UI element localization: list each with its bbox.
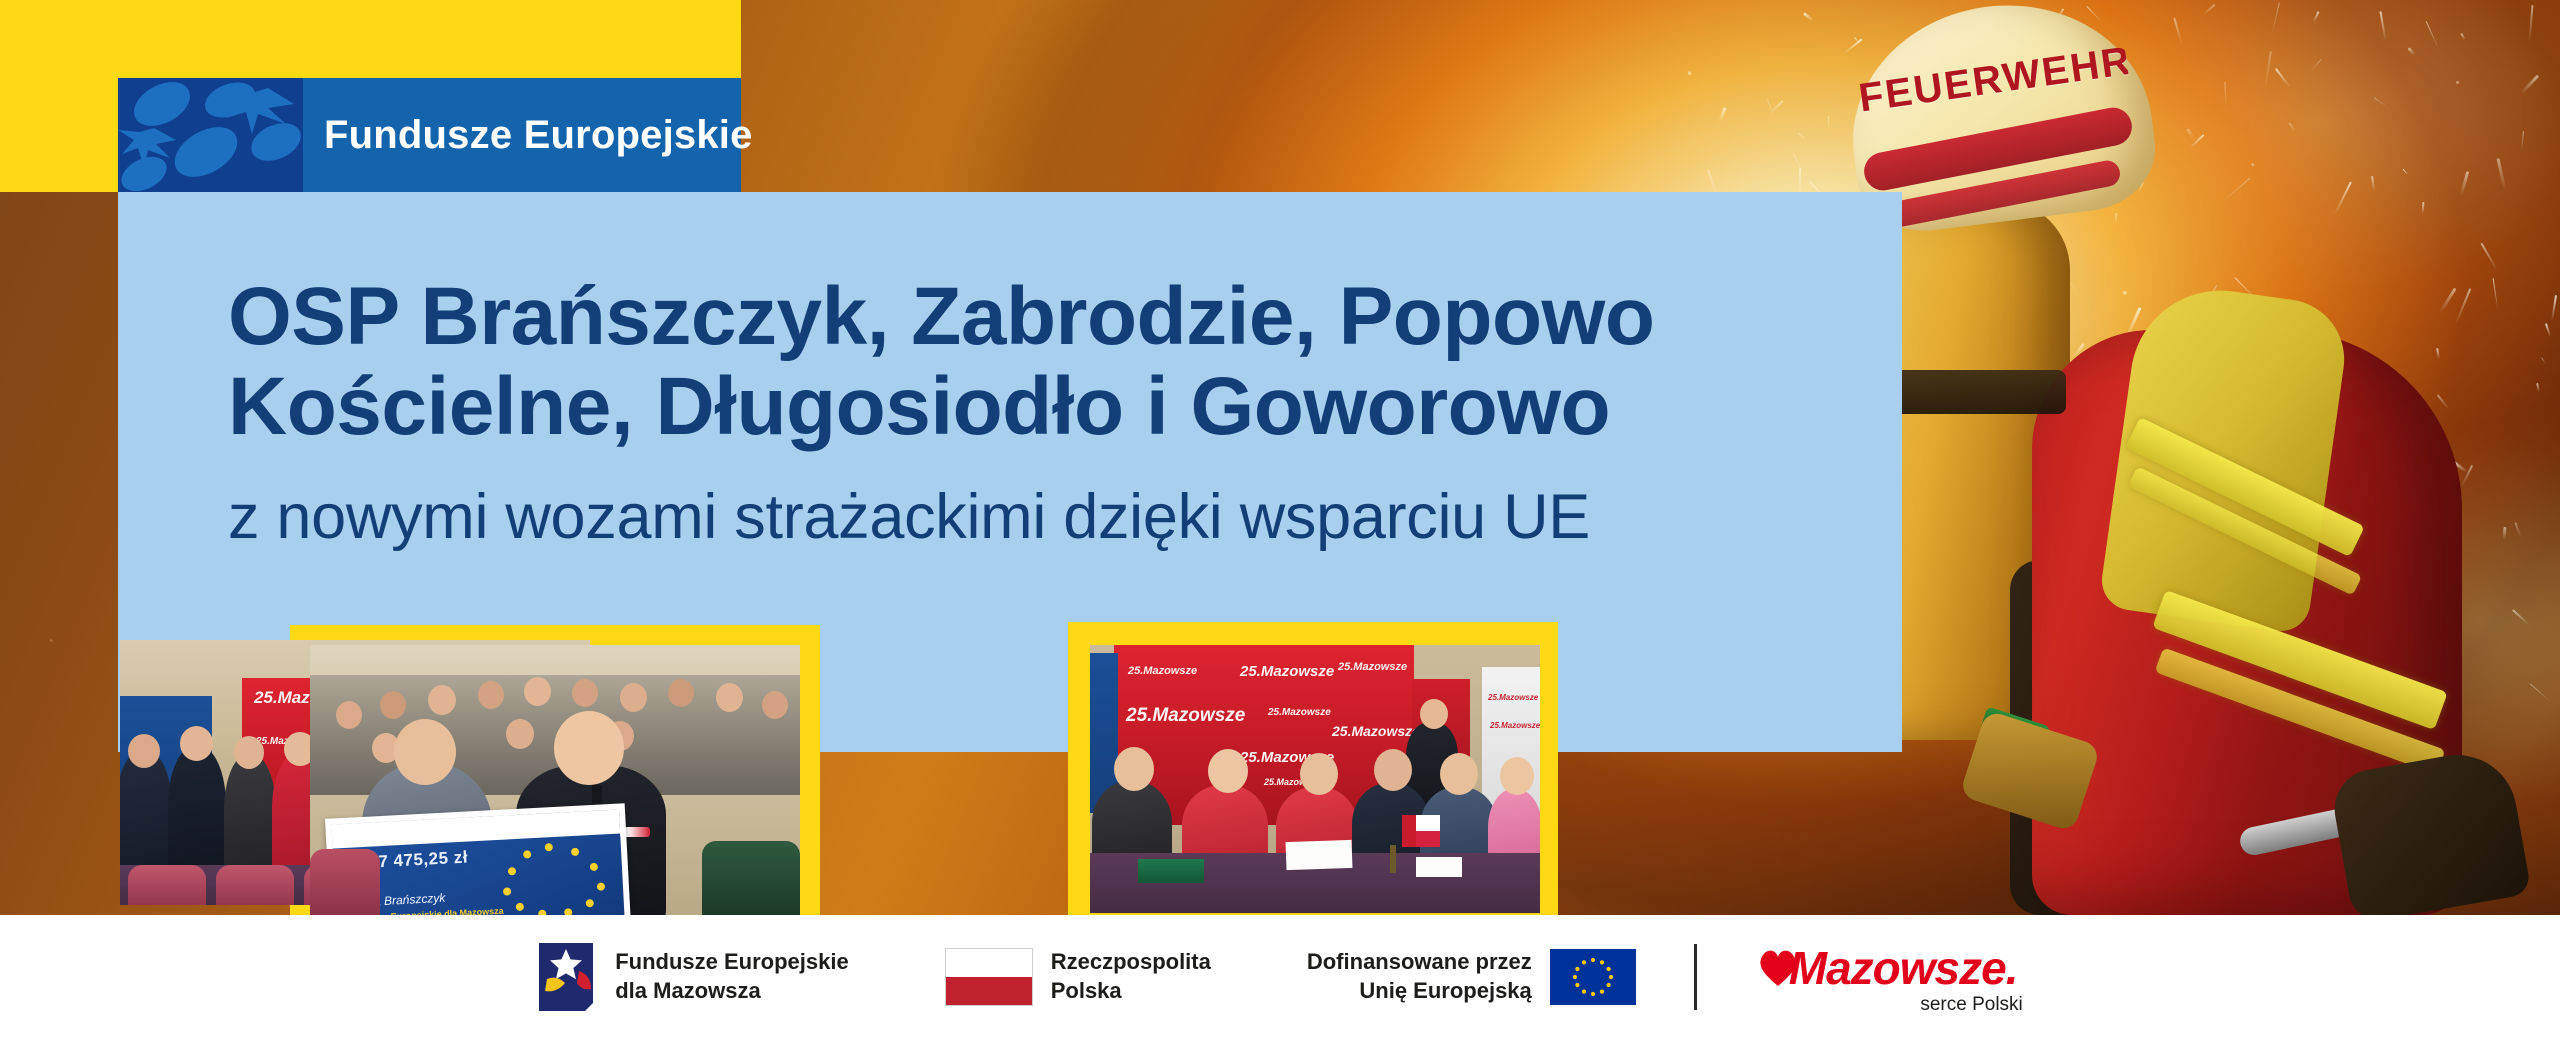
logo-text: Fundusze Europejskie dla Mazowsza <box>615 948 849 1004</box>
spark <box>1718 107 1726 122</box>
logo-separator-gap <box>849 976 945 977</box>
dofinansowane-przez-unie-europejska-logo: Dofinansowane przez Unię Europejską <box>1307 948 1636 1004</box>
mazowsze-logo: Mazowsze. serce Polski <box>1755 940 2025 1014</box>
fe-flag-star-icon <box>535 941 597 1013</box>
eu-flag-icon <box>1550 949 1636 1005</box>
fundusze-europejskie-dla-mazowsza-logo: Fundusze Europejskie dla Mazowsza <box>535 941 849 1013</box>
logo-line-2: dla Mazowsza <box>615 977 849 1005</box>
headline-line-2: Kościelne, Długosiodło i Goworowo <box>228 362 1848 452</box>
poland-flag-icon <box>945 948 1033 1006</box>
logo-line-1: Fundusze Europejskie <box>615 948 849 976</box>
logo-line-1: Rzeczpospolita <box>1051 948 1211 976</box>
footer-logo-bar: Fundusze Europejskie dla Mazowsza Rzeczp… <box>0 915 2560 1038</box>
logo-separator-gap <box>1211 976 1307 977</box>
logo-line-2: Unię Europejską <box>1307 977 1532 1005</box>
eu-stars-pattern-icon <box>118 78 303 193</box>
fundusze-europejskie-badge: Fundusze Europejskie <box>118 78 741 193</box>
page-title: OSP Brańszczyk, Zabrodzie, Popowo Koście… <box>228 272 1848 452</box>
page-subtitle: z nowymi wozami strażackimi dzięki wspar… <box>228 482 1888 553</box>
mazowsze-tagline: serce Polski <box>1920 994 2022 1016</box>
logo-text: Rzeczpospolita Polska <box>1051 948 1211 1004</box>
spark <box>1803 12 1814 22</box>
logo-text: Dofinansowane przez Unię Europejską <box>1307 948 1532 1004</box>
rzeczpospolita-polska-logo: Rzeczpospolita Polska <box>945 948 1211 1006</box>
photo-symbolic-cheque: 1 537 475,25 zł Gmina Brańszczyk Fundusz… <box>310 645 800 915</box>
mazowsze-wordmark: Mazowsze. <box>1789 942 2059 994</box>
photo-signing-agreements: 25.Mazowsze 25.Mazowsze 25.Mazowsze 25.M… <box>1090 645 1540 913</box>
headline-line-1: OSP Brańszczyk, Zabrodzie, Popowo <box>228 272 1848 362</box>
badge-label: Fundusze Europejskie <box>324 113 753 158</box>
logo-line-1: Dofinansowane przez <box>1307 948 1532 976</box>
firefighter-figure: FEUERWEHR <box>1820 0 2560 915</box>
vertical-divider <box>1694 944 1697 1010</box>
spark <box>1798 133 1807 141</box>
hero-banner: FEUERWEHR Fundusze Europejskie <box>0 0 2560 915</box>
logo-line-2: Polska <box>1051 977 1211 1005</box>
